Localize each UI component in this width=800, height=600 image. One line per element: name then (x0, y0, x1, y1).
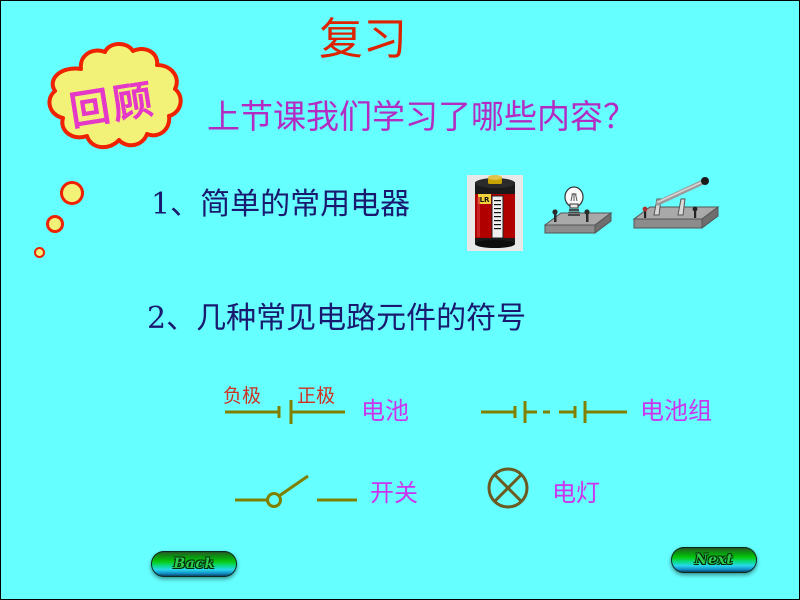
thought-bubble-dot-small (34, 247, 45, 258)
battery-positive-label: 正极 (297, 381, 335, 408)
thought-bubble-dot-medium (46, 215, 64, 233)
page-title: 复习 (319, 17, 407, 63)
back-button[interactable]: Back (151, 551, 237, 577)
back-button-label: Back (173, 556, 214, 572)
thought-bubble: 回顾 (37, 39, 187, 164)
lamp-symbol-caption: 电灯 (552, 473, 600, 508)
next-button-label: Next (695, 552, 734, 568)
dry-cell-battery-icon: LR (467, 175, 523, 251)
thought-bubble-label: 回顾 (28, 28, 196, 175)
battery-symbol-caption: 电池 (361, 391, 409, 426)
slide-canvas: 回顾 复习 上节课我们学习了哪些内容？ 1、简单的常用电器 2、几种常见电路元件… (0, 0, 800, 600)
lamp-symbol-icon (485, 465, 531, 511)
switch-symbol-icon (233, 473, 359, 509)
switch-symbol-caption: 开关 (370, 473, 418, 508)
thought-bubble-dot-large (60, 181, 84, 205)
knife-switch-icon (628, 177, 724, 239)
next-button[interactable]: Next (671, 547, 757, 573)
content-item-1: 1、简单的常用电器 (151, 179, 410, 223)
content-item-2: 2、几种常见电路元件的符号 (147, 293, 526, 337)
battery-negative-label: 负极 (223, 381, 261, 408)
battery-pack-symbol-caption: 电池组 (640, 391, 712, 426)
review-question: 上节课我们学习了哪些内容？ (207, 99, 636, 135)
lamp-on-base-icon (541, 183, 615, 241)
svg-text:LR: LR (480, 196, 490, 204)
battery-pack-symbol-icon (479, 399, 629, 425)
